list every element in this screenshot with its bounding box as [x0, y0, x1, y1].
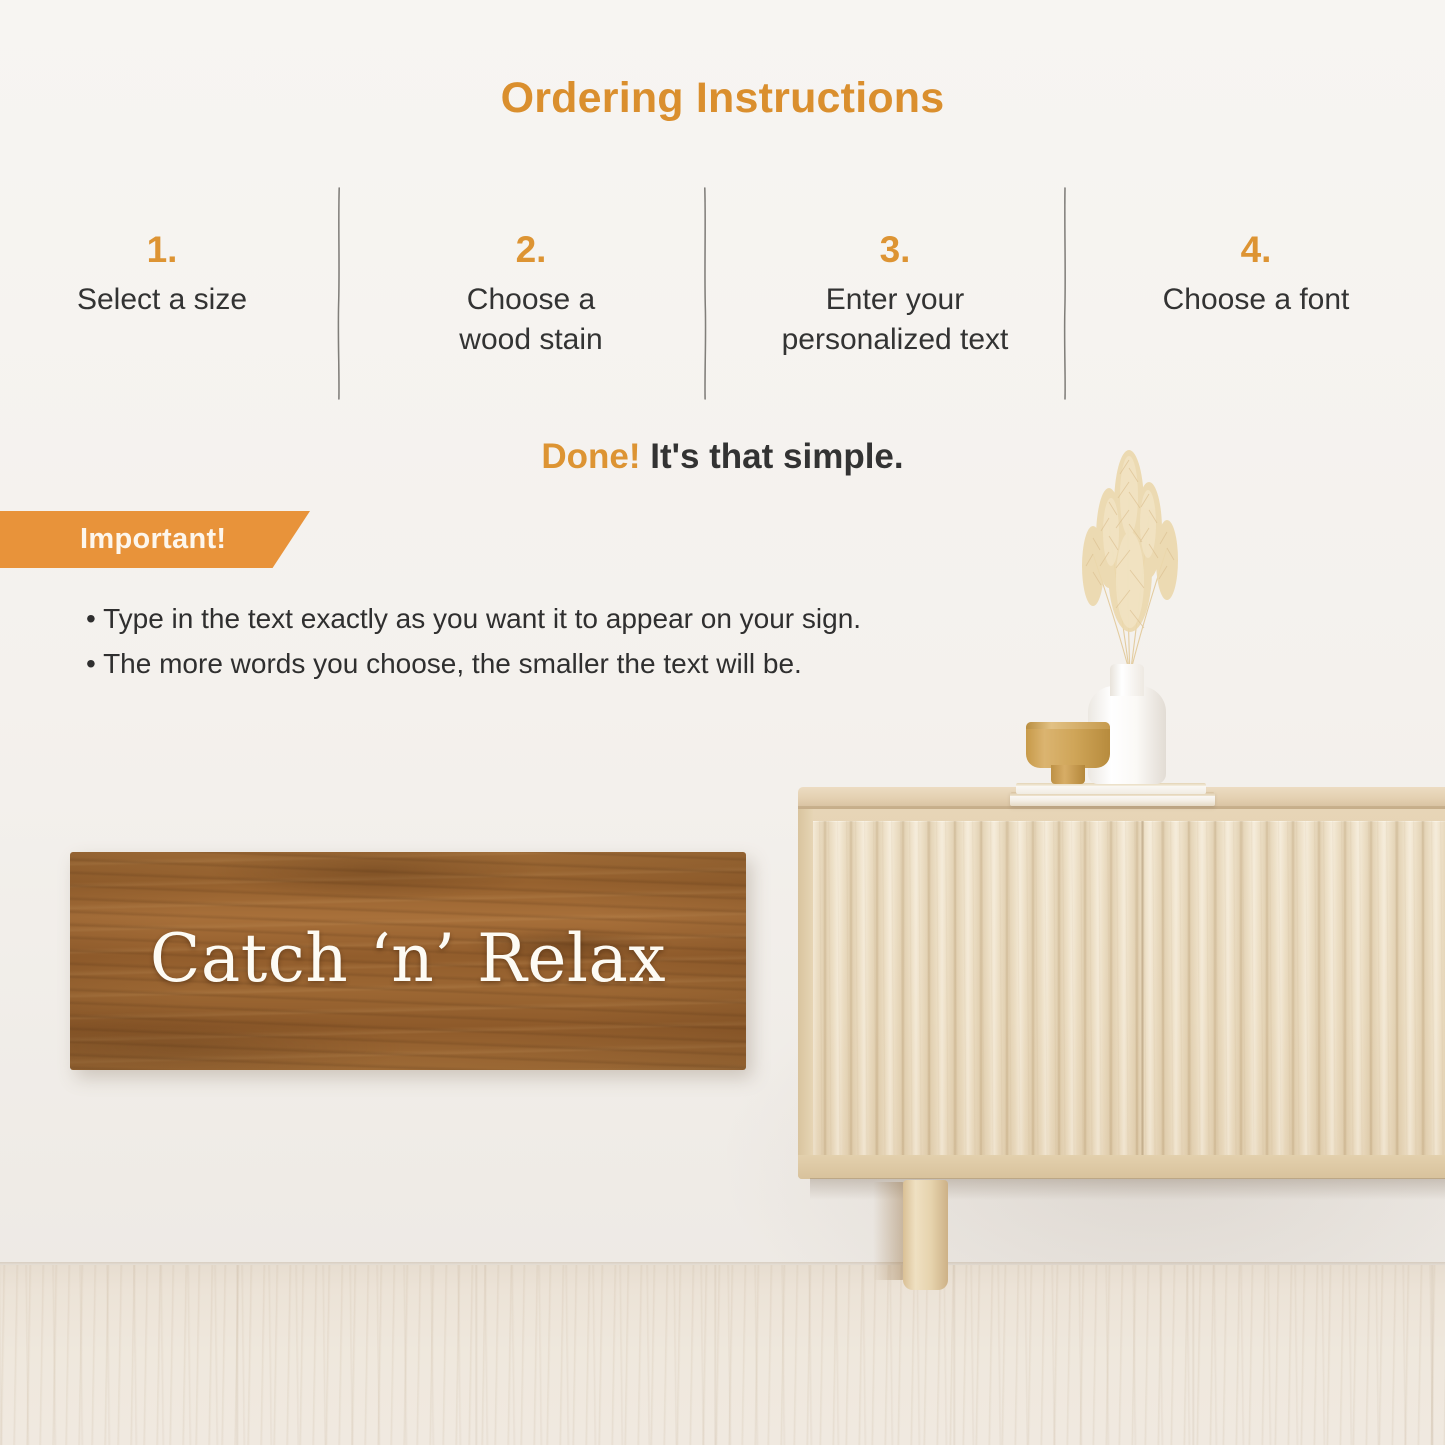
page-title: Ordering Instructions [0, 74, 1445, 123]
divider-line-icon [700, 186, 710, 401]
sideboard-left-edge [798, 807, 813, 1179]
step-1-label: Select a size [48, 280, 276, 320]
step-divider-2 [700, 186, 710, 401]
sideboard-door-seam [1141, 821, 1144, 1157]
bullet-item: • The more words you choose, the smaller… [86, 641, 1136, 686]
bowl-foot [1051, 765, 1085, 784]
done-highlight: Done! [541, 437, 640, 476]
step-3-number: 3. [744, 228, 1046, 272]
step-2-number: 2. [412, 228, 650, 272]
bowl-rim [1026, 722, 1110, 729]
sideboard-leg [903, 1180, 948, 1290]
sign-text: Catch ‘n’ Relax [70, 852, 746, 1070]
steps-row: 1. Select a size 2. Choose a wood stain … [0, 228, 1445, 368]
important-bullets: • Type in the text exactly as you want i… [86, 596, 1136, 686]
important-banner: Important! [0, 511, 310, 568]
floor [0, 1265, 1445, 1445]
divider-line-icon [1060, 186, 1070, 401]
book-upper [1016, 783, 1206, 794]
product-infographic: Ordering Instructions 1. Select a size 2… [0, 0, 1445, 1445]
step-divider-3 [1060, 186, 1070, 401]
wooden-sign: Catch ‘n’ Relax [70, 852, 746, 1070]
step-4: 4. Choose a font [1120, 228, 1392, 320]
step-divider-1 [334, 186, 344, 401]
step-3: 3. Enter your personalized text [744, 228, 1046, 360]
sideboard-leg-shadow [873, 1182, 905, 1280]
sideboard-bottom-rail [798, 1155, 1445, 1179]
brass-bowl [1026, 722, 1110, 784]
important-banner-label: Important! [80, 523, 226, 556]
sideboard-body [798, 807, 1445, 1179]
sideboard [798, 787, 1445, 1185]
bullet-item: • Type in the text exactly as you want i… [86, 596, 1136, 641]
step-4-label: Choose a font [1120, 280, 1392, 320]
floor-planks [0, 1265, 1445, 1445]
sideboard-grain [812, 821, 1445, 1157]
step-2-label: Choose a wood stain [412, 280, 650, 360]
step-4-number: 4. [1120, 228, 1392, 272]
book-lower [1010, 792, 1215, 806]
step-1-number: 1. [48, 228, 276, 272]
sideboard-door-panel [812, 821, 1445, 1157]
step-3-label: Enter your personalized text [744, 280, 1046, 360]
done-line: Done! It's that simple. [0, 437, 1445, 477]
divider-line-icon [334, 186, 344, 401]
step-1: 1. Select a size [48, 228, 276, 320]
step-2: 2. Choose a wood stain [412, 228, 650, 360]
done-rest: It's that simple. [650, 437, 903, 476]
